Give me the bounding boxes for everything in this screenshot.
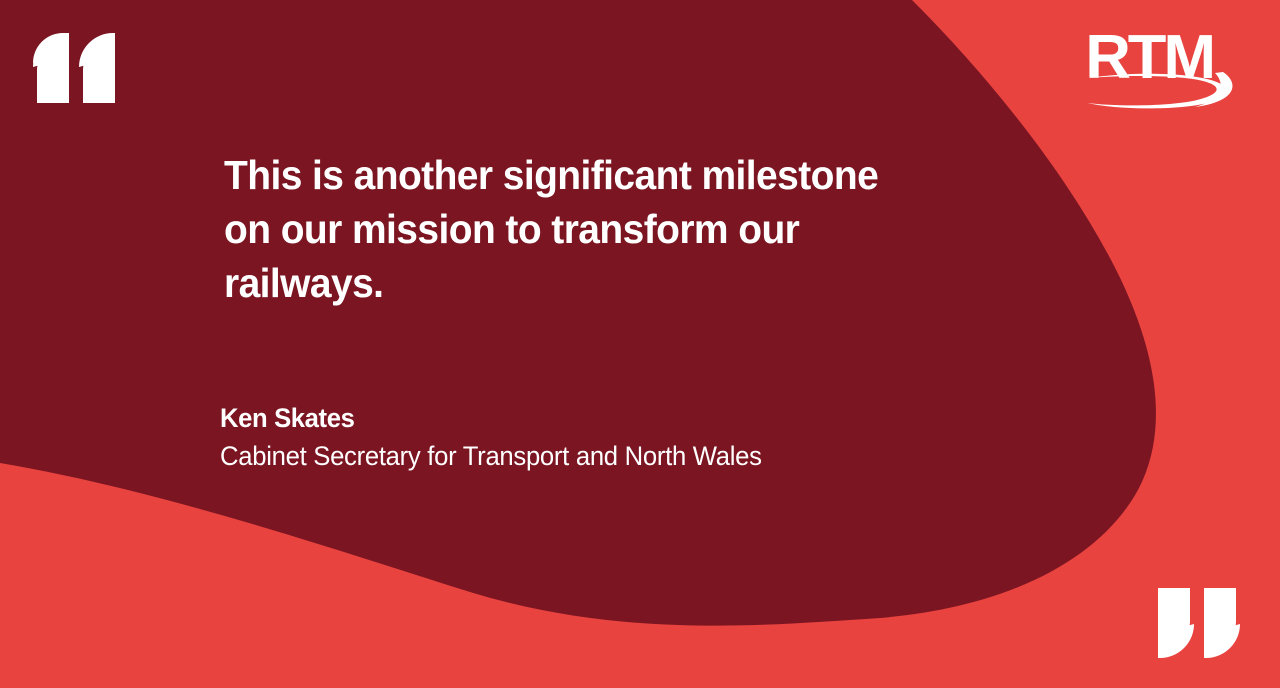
rtm-logo-wordmark: RTM bbox=[1085, 23, 1213, 92]
rtm-logo[interactable]: RTM bbox=[1075, 22, 1240, 114]
opening-quote-mark-icon bbox=[33, 33, 115, 103]
quote-card: RTM This is another significant mileston… bbox=[0, 0, 1280, 688]
attribution-block: Ken Skates Cabinet Secretary for Transpo… bbox=[220, 400, 847, 477]
attribution-name: Ken Skates bbox=[220, 400, 847, 436]
quote-body: This is another significant milestone on… bbox=[224, 148, 964, 310]
quote-text: This is another significant milestone on… bbox=[224, 148, 927, 310]
attribution-role: Cabinet Secretary for Transport and Nort… bbox=[220, 436, 847, 477]
closing-quote-mark-icon bbox=[1158, 588, 1240, 658]
